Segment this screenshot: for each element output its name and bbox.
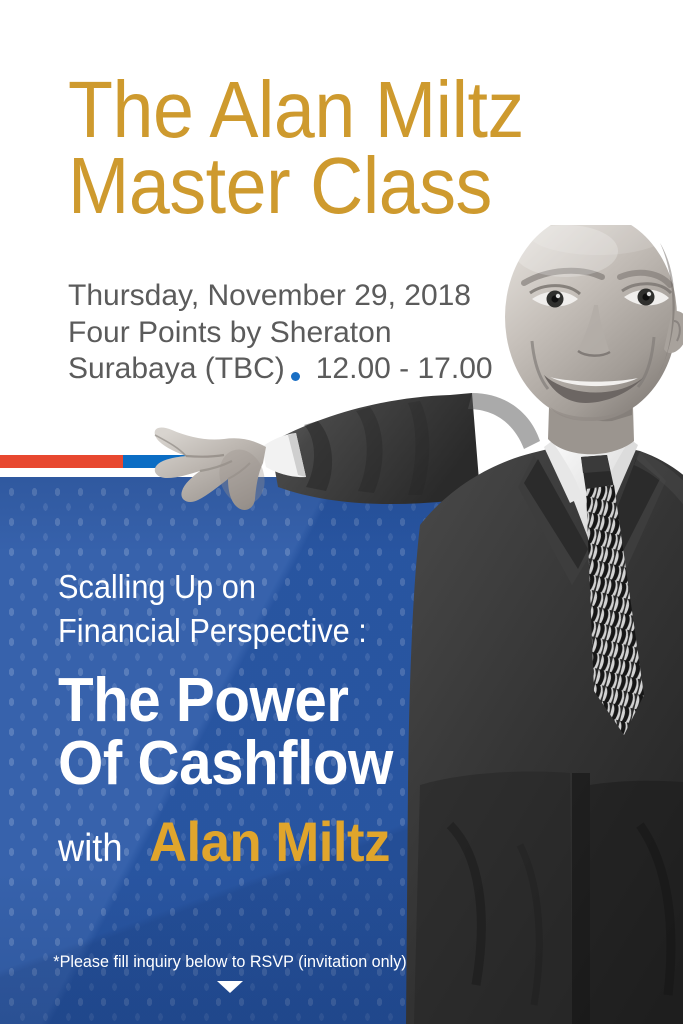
stripe-segment-gap bbox=[228, 455, 386, 468]
stripe-segment-blue bbox=[123, 455, 228, 468]
event-time: 12.00 - 17.00 bbox=[316, 351, 493, 388]
subtitle-line-1: Scalling Up on bbox=[58, 565, 495, 609]
event-poster: Scalling Up on Financial Perspective : T… bbox=[0, 0, 683, 1024]
headline-line-2: Of Cashflow bbox=[58, 732, 500, 795]
speaker-name: Alan Miltz bbox=[149, 809, 390, 874]
blue-panel: Scalling Up on Financial Perspective : T… bbox=[0, 477, 683, 1024]
blue-dot-icon bbox=[291, 372, 300, 381]
event-venue-line-1: Four Points by Sheraton bbox=[68, 315, 628, 352]
accent-stripe-band bbox=[0, 455, 683, 468]
subtitle-line-2: Financial Perspective : bbox=[58, 609, 495, 653]
event-venue-line-2: Surabaya (TBC) bbox=[68, 351, 285, 388]
headline-line-1: The Power bbox=[58, 669, 500, 732]
rsvp-footer: *Please fill inquiry below to RSVP (invi… bbox=[0, 952, 460, 993]
stripe-segment-tail bbox=[461, 455, 683, 468]
poster-title: The Alan Miltz Master Class bbox=[68, 72, 668, 224]
with-label: with bbox=[58, 827, 123, 871]
title-line-1: The Alan Miltz bbox=[68, 72, 620, 148]
rsvp-note: *Please fill inquiry below to RSVP (invi… bbox=[53, 952, 406, 972]
event-date: Thursday, November 29, 2018 bbox=[68, 278, 628, 315]
speaker-row: with Alan Miltz bbox=[58, 809, 528, 874]
title-line-2: Master Class bbox=[68, 148, 620, 224]
white-header-panel: The Alan Miltz Master Class Thursday, No… bbox=[0, 0, 683, 455]
stripe-segment-red bbox=[0, 455, 123, 468]
blue-panel-copy: Scalling Up on Financial Perspective : T… bbox=[58, 565, 528, 874]
stripe-segment-green bbox=[386, 455, 461, 468]
chevron-down-triangle-icon bbox=[217, 981, 243, 993]
event-details: Thursday, November 29, 2018 Four Points … bbox=[68, 278, 628, 388]
event-venue-time-row: Surabaya (TBC) 12.00 - 17.00 bbox=[68, 351, 628, 388]
